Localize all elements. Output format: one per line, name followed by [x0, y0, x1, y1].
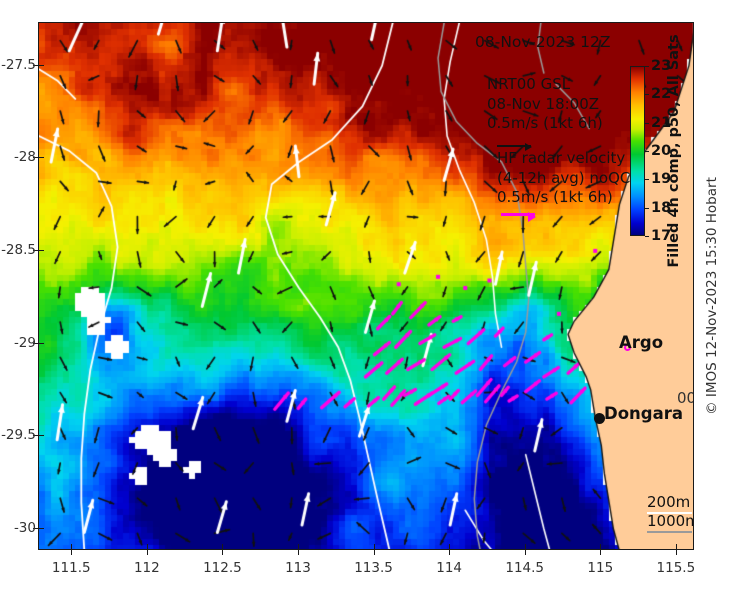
x-axis-tick [222, 550, 223, 555]
sst-map-figure: 08-Nov-2023 12Z NRT00 GSL 08-Nov 18:00Z … [0, 0, 740, 592]
dongara-city-label: Dongara [604, 404, 683, 423]
colorbar-label: Filled 4h comp, p50, All Sats [666, 34, 682, 267]
x-axis-tick [374, 550, 375, 555]
x-axis-tick [449, 550, 450, 555]
colorbar-tick [645, 179, 649, 180]
x-axis-tick [147, 550, 148, 555]
x-axis-tick-inner [676, 544, 677, 549]
nrt-legend-line-1: NRT00 GSL [487, 75, 603, 95]
depth-contour-1000m-swatch [647, 531, 692, 533]
y-axis-tick-inner [39, 65, 44, 66]
y-axis-tick-inner [39, 250, 44, 251]
colorbar: 17181920212223 Filled 4h comp, p50, All … [590, 66, 690, 316]
y-axis-tick-label: -28.5 [1, 242, 36, 258]
y-axis-tick-label: -27.5 [1, 57, 36, 73]
x-axis-tick-inner [449, 544, 450, 549]
x-axis-tick-inner [71, 544, 72, 549]
y-axis-tick-inner [39, 343, 44, 344]
x-axis-tick-label: 111.5 [52, 560, 91, 576]
y-axis-tick-inner [39, 435, 44, 436]
map-title-date: 08-Nov-2023 12Z [475, 33, 610, 51]
colorbar-tick [645, 94, 649, 95]
x-axis-tick-label: 114 [436, 560, 462, 576]
colorbar-tick [645, 151, 649, 152]
hf-radar-reference-arrow-icon [501, 213, 535, 216]
x-axis-tick-inner [374, 544, 375, 549]
x-axis-tick-label: 113.5 [354, 560, 393, 576]
colorbar-tick [645, 236, 649, 237]
colorbar-tick [645, 66, 649, 67]
x-axis-tick [298, 550, 299, 555]
y-axis-tick-inner [39, 528, 44, 529]
current-reference-arrow-icon [497, 145, 531, 147]
depth-contour-200m-label: 200m [647, 493, 690, 511]
right-edge-time-label: 00Z [677, 389, 694, 407]
argo-legend-label: Argo [619, 333, 663, 352]
y-axis-tick-label: -29.5 [1, 427, 36, 443]
nrt-current-legend-text: NRT00 GSL 08-Nov 18:00Z 0.5m/s (1kt 6h) [487, 75, 603, 134]
x-axis-tick [676, 550, 677, 555]
y-axis-labels: -27.5-28-28.5-29-29.5-30 [0, 0, 36, 592]
x-axis-tick [525, 550, 526, 555]
x-axis-tick-label: 115 [587, 560, 613, 576]
y-axis-tick-inner [39, 157, 44, 158]
x-axis-tick [600, 550, 601, 555]
x-axis-tick-label: 115.5 [657, 560, 696, 576]
y-axis-tick-label: -29 [14, 335, 36, 351]
nrt-legend-line-3: 0.5m/s (1kt 6h) [487, 114, 603, 134]
x-axis-tick-label: 113 [285, 560, 311, 576]
x-axis-tick-inner [600, 544, 601, 549]
colorbar-tick [645, 123, 649, 124]
depth-contour-1000m-label: 1000m [647, 512, 694, 530]
x-axis-tick-label: 112.5 [203, 560, 242, 576]
colorbar-tick [645, 208, 649, 209]
x-axis-tick [71, 550, 72, 555]
x-axis-tick-inner [147, 544, 148, 549]
credit-text: © IMOS 12-Nov-2023 15:30 Hobart [704, 177, 720, 415]
x-axis-tick-label: 112 [134, 560, 160, 576]
colorbar-gradient [630, 66, 645, 236]
x-axis-tick-inner [222, 544, 223, 549]
x-axis-tick-label: 114.5 [505, 560, 544, 576]
y-axis-tick-label: -28 [14, 149, 36, 165]
x-axis-tick-inner [525, 544, 526, 549]
y-axis-tick-label: -30 [14, 520, 36, 536]
nrt-legend-line-2: 08-Nov 18:00Z [487, 95, 603, 115]
x-axis-tick-inner [298, 544, 299, 549]
